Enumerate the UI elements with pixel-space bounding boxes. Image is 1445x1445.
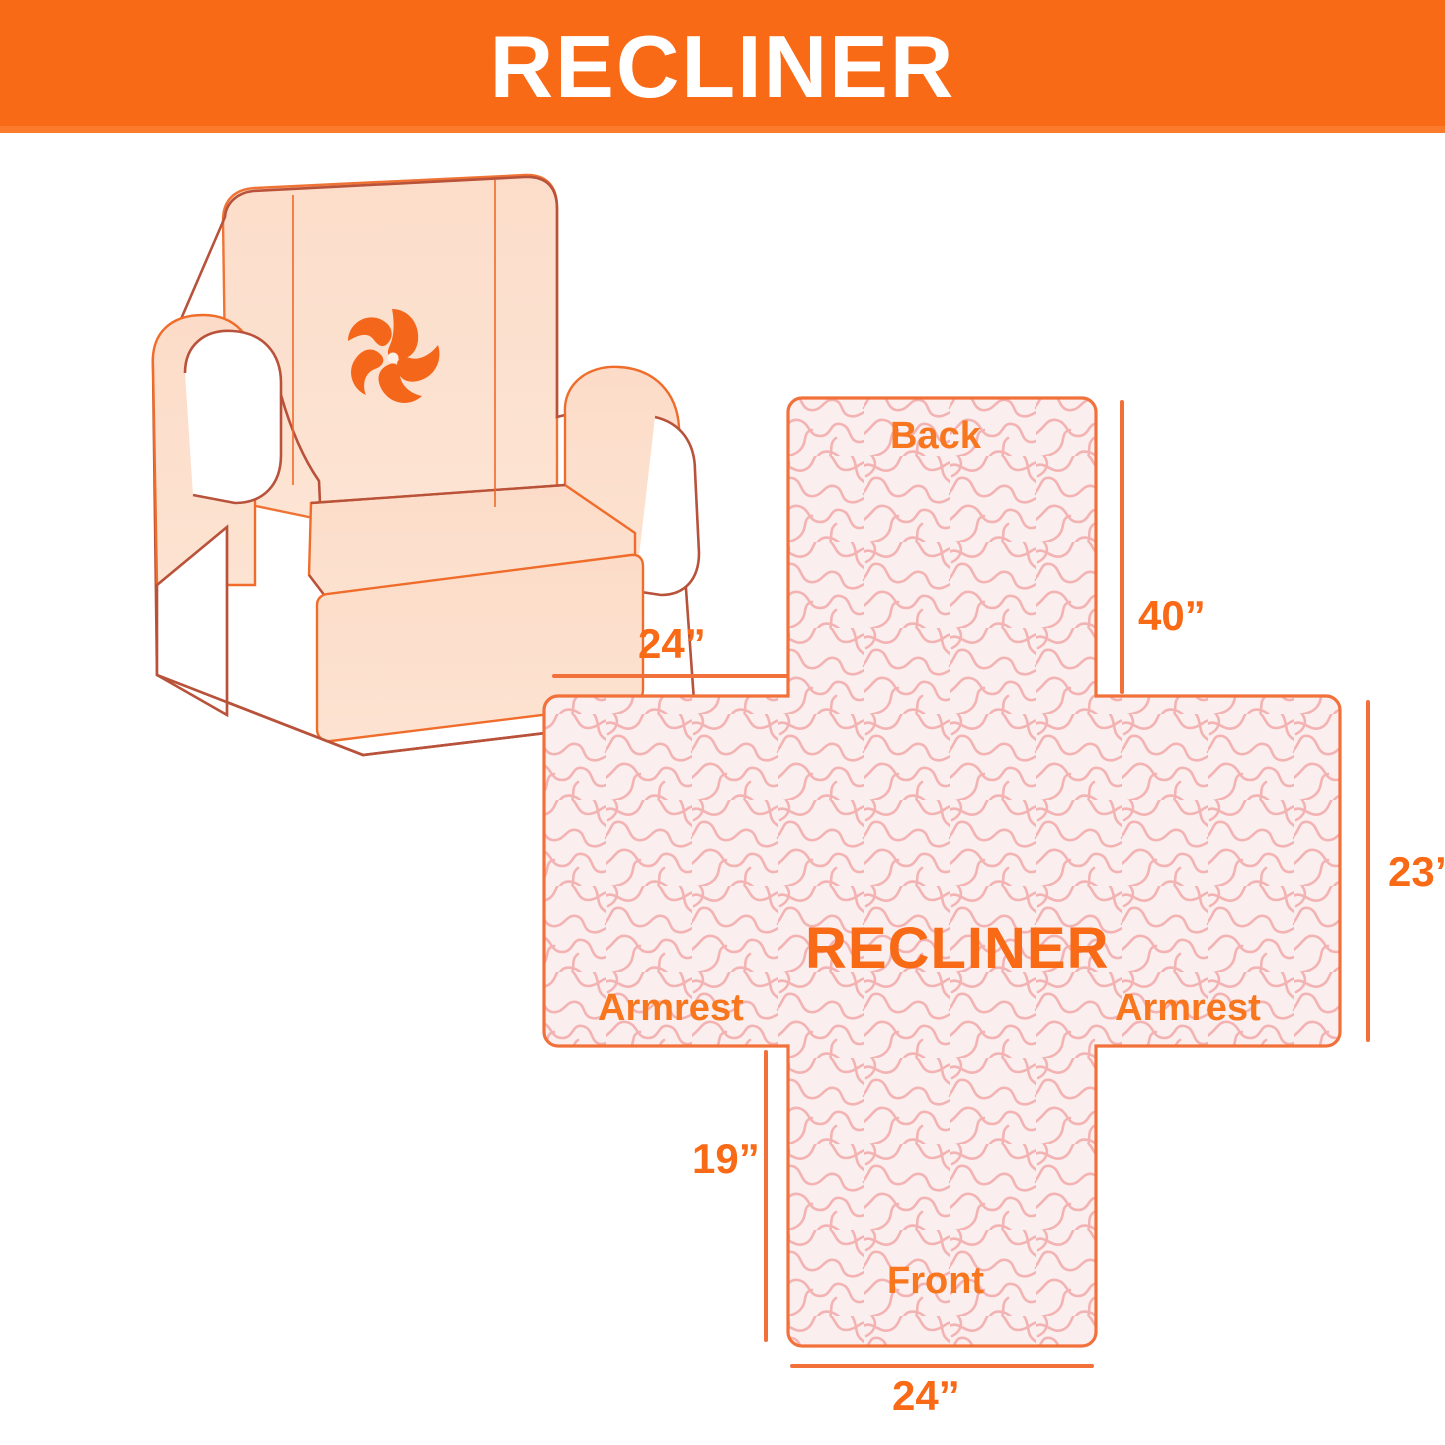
dimension-value-back-width: 24”: [638, 620, 706, 668]
dimension-value-front-width: 24”: [892, 1372, 960, 1420]
cover-cross-outline: [544, 398, 1340, 1346]
page-title: RECLINER: [490, 23, 956, 111]
diagram-center-label: RECLINER: [805, 915, 1109, 982]
recliner-cover-dimension-diagram: Back Armrest Armrest Front RECLINER 40” …: [520, 370, 1445, 1395]
header-banner: RECLINER: [0, 0, 1445, 133]
panel-label-back: Back: [890, 415, 981, 458]
dimension-value-armrest-height: 23”: [1388, 848, 1445, 896]
panel-label-armrest-right: Armrest: [1115, 987, 1261, 1030]
dimension-value-front-height: 19”: [692, 1135, 760, 1183]
panel-label-armrest-left: Armrest: [598, 987, 744, 1030]
panel-label-front: Front: [887, 1260, 984, 1303]
header-banner-underline: [0, 126, 1445, 133]
page-root: RECLINER: [0, 0, 1445, 1445]
dimension-value-back-height: 40”: [1138, 592, 1206, 640]
